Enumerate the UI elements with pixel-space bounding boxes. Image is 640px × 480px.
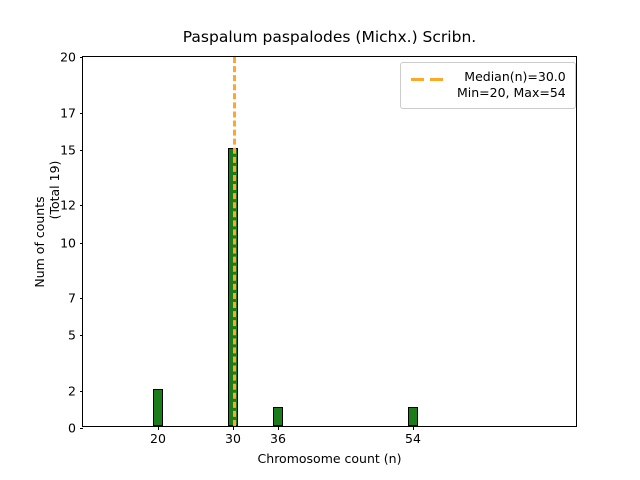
plot-area: 02571012151720 20303654 — [82, 56, 577, 427]
y-tick-label: 0 — [68, 422, 76, 435]
chart-title: Paspalum paspalodes (Michx.) Scribn. — [82, 28, 577, 46]
y-tick-label: 17 — [60, 106, 76, 119]
median-line-layer — [83, 57, 576, 426]
y-axis-total-label-text: (Total 19) — [48, 161, 62, 220]
x-axis-label: Chromosome count (n) — [82, 452, 577, 466]
x-tick-mark — [233, 426, 234, 430]
x-tick-label: 54 — [405, 432, 421, 446]
y-axis-label-text: Num of counts — [33, 196, 47, 287]
y-tick-mark — [80, 298, 84, 299]
chart-figure: Paspalum paspalodes (Michx.) Scribn. 025… — [0, 0, 640, 480]
legend-text-block: Median(n)=30.0 Min=20, Max=54 — [457, 69, 566, 101]
legend-entry-minmax: Min=20, Max=54 — [457, 85, 566, 101]
y-tick-mark — [80, 335, 84, 336]
y-tick-mark — [80, 205, 84, 206]
x-tick-mark — [413, 426, 414, 430]
x-tick-mark — [278, 426, 279, 430]
y-tick-mark — [80, 391, 84, 392]
x-tick-label: 36 — [270, 432, 286, 446]
y-tick-label: 7 — [68, 292, 76, 305]
median-line-swatch-icon — [410, 71, 448, 87]
x-tick-mark — [158, 426, 159, 430]
y-tick-mark — [80, 243, 84, 244]
x-tick-label: 20 — [150, 432, 166, 446]
y-tick-label: 5 — [68, 329, 76, 342]
y-tick-label: 20 — [60, 51, 76, 64]
y-tick-mark — [80, 57, 84, 58]
legend-entry-median: Median(n)=30.0 — [464, 69, 565, 85]
median-vline — [233, 57, 236, 426]
y-tick-mark — [80, 150, 84, 151]
y-tick-mark — [80, 113, 84, 114]
y-tick-label: 2 — [68, 384, 76, 397]
y-tick-mark — [80, 428, 84, 429]
chart-legend[interactable]: Median(n)=30.0 Min=20, Max=54 — [400, 62, 576, 109]
y-axis-total-label: (Total 19) — [46, 130, 64, 250]
x-tick-label: 30 — [225, 432, 241, 446]
